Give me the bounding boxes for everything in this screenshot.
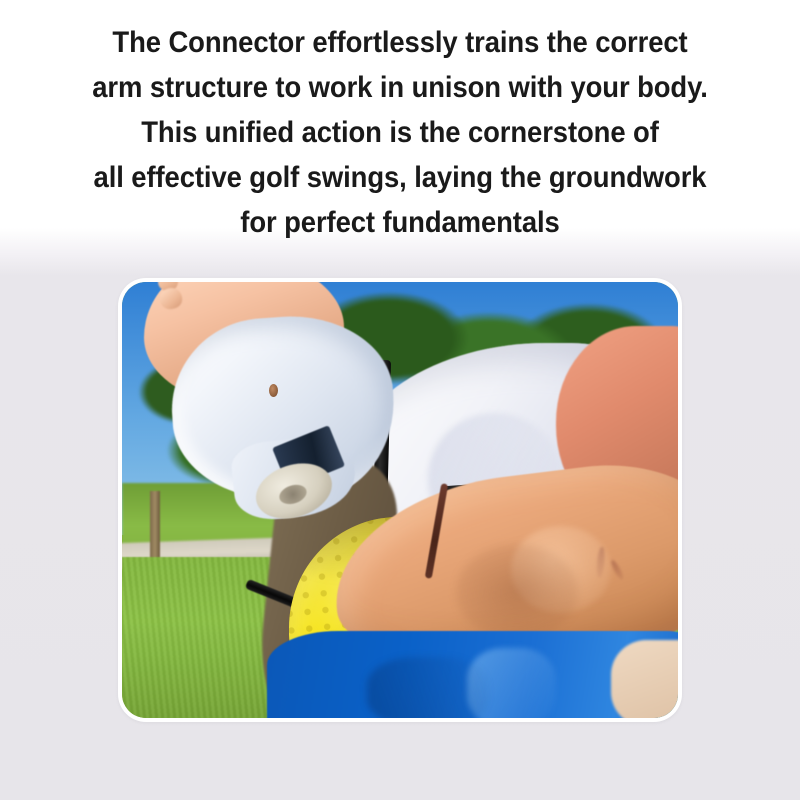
leg-skin: [611, 640, 678, 718]
headline-line-2: arm structure to work in unison with you…: [28, 65, 772, 110]
shorts-shadow: [367, 657, 489, 718]
product-photo: [122, 282, 678, 718]
headline-line-1: The Connector effortlessly trains the co…: [28, 20, 772, 65]
headline-line-4: all effective golf swings, laying the gr…: [28, 155, 772, 200]
headline-line-3: This unified action is the cornerstone o…: [28, 110, 772, 155]
elbow-shadow: [456, 544, 578, 640]
headline-line-5: for perfect fundamentals: [28, 200, 772, 245]
knuckle: [158, 286, 184, 311]
headline-text-block: The Connector effortlessly trains the co…: [28, 20, 772, 245]
product-photo-card: [118, 278, 682, 722]
forearm-vein: [610, 559, 626, 581]
promo-page: The Connector effortlessly trains the co…: [0, 0, 800, 800]
